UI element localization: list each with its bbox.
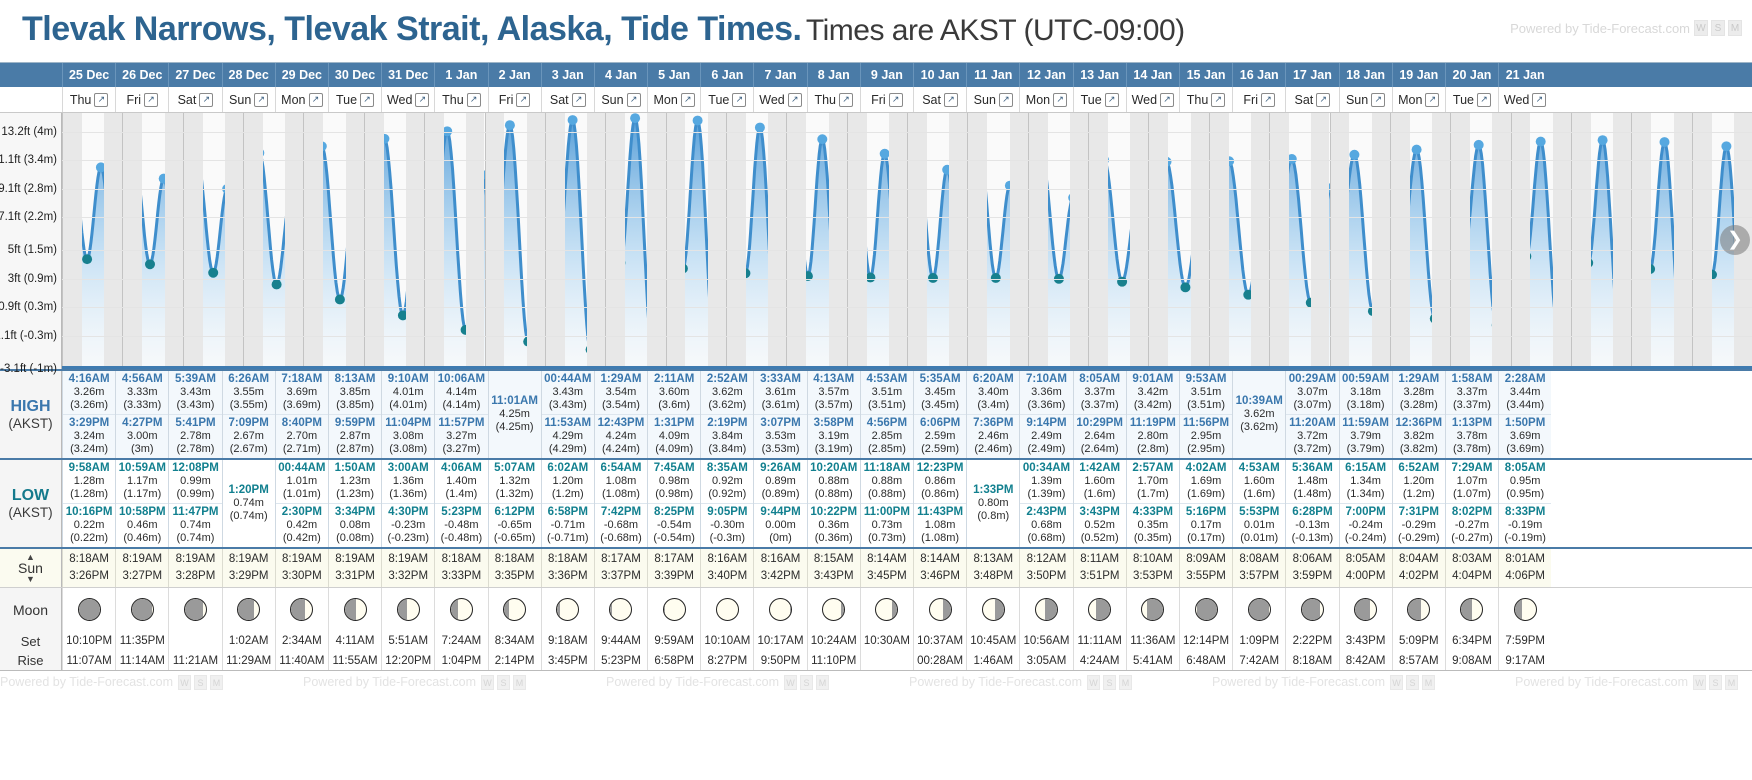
expand-day-icon[interactable]: ↗: [1261, 93, 1275, 107]
tide-event-height: 4.24m: [595, 430, 647, 443]
weekday-cell[interactable]: Thu↗: [62, 87, 115, 112]
tide-event-height: 0.22m: [63, 519, 115, 532]
chart-plot-area[interactable]: ❯: [62, 113, 1752, 369]
date-cell[interactable]: 14 Jan: [1126, 63, 1179, 87]
tide-event-height-alt: (3.27m): [435, 443, 487, 456]
high-label-text: HIGH: [11, 398, 51, 416]
tide-event-height-alt: (3.62m): [1233, 421, 1285, 434]
low-tide-cell: 11:18AM0.88m(0.88m)11:00PM0.73m(0.73m): [860, 460, 913, 547]
moon-phase-icon: [184, 598, 207, 621]
date-cell[interactable]: 7 Jan: [753, 63, 806, 87]
expand-day-icon[interactable]: ↗: [1371, 93, 1385, 107]
moonrise-cell: 2:14PM: [488, 651, 541, 670]
sunset-time: 4:02PM: [1399, 568, 1439, 585]
tide-event-height-alt: (3.51m): [1180, 399, 1232, 412]
tide-event-height-alt: (1.17m): [116, 488, 168, 501]
weekday-cell[interactable]: Sun↗: [222, 87, 275, 112]
date-cell[interactable]: 31 Dec: [381, 63, 434, 87]
moonset-cell: 4:11AM: [328, 631, 381, 651]
tide-event-height: 0.74m: [223, 497, 275, 510]
tide-event: 11:43PM1.08m(1.08m): [914, 503, 966, 547]
tide-event-height: 0.86m: [914, 475, 966, 488]
expand-day-icon[interactable]: ↗: [144, 93, 158, 107]
wind-icon: W: [178, 675, 191, 690]
tide-event: 2:28AM3.44m(3.44m): [1499, 371, 1551, 414]
date-cell[interactable]: 28 Dec: [222, 63, 275, 87]
tide-event: 6:02AM1.20m(1.2m): [542, 460, 594, 503]
moonset-row: Set 10:10PM11:35PM1:02AM2:34AM4:11AM5:51…: [0, 631, 1752, 651]
expand-day-icon[interactable]: ↗: [839, 93, 853, 107]
expand-day-icon[interactable]: ↗: [1477, 93, 1491, 107]
date-cell[interactable]: 29 Dec: [275, 63, 328, 87]
date-cells: 25 Dec26 Dec27 Dec28 Dec29 Dec30 Dec31 D…: [62, 63, 1752, 87]
scroll-right-button[interactable]: ❯: [1720, 225, 1750, 255]
expand-day-icon[interactable]: ↗: [1105, 93, 1119, 107]
tide-event-height: 3.78m: [1446, 430, 1498, 443]
night-shading: [1432, 113, 1450, 366]
sun-cell: 8:14AM3:46PM: [913, 549, 966, 587]
moon-cell: [594, 588, 647, 631]
night-shading: [1511, 113, 1531, 366]
date-cell[interactable]: 17 Jan: [1285, 63, 1338, 87]
tide-event-height: 2.64m: [1074, 430, 1126, 443]
tide-event-height: 1.48m: [1286, 475, 1338, 488]
night-shading: [346, 113, 364, 366]
night-shading: [1269, 113, 1289, 366]
tide-event-height-alt: (-0.65m): [489, 532, 541, 545]
date-cell[interactable]: 25 Dec: [62, 63, 115, 87]
tide-event-time: 6:52AM: [1393, 462, 1445, 475]
expand-day-icon[interactable]: ↗: [681, 93, 695, 107]
sunset-time: 3:32PM: [388, 568, 428, 585]
tide-event: 11:56PM2.95m(2.95m): [1180, 414, 1232, 458]
date-cell[interactable]: 16 Jan: [1232, 63, 1285, 87]
weekday-cell[interactable]: Mon↗: [647, 87, 700, 112]
tide-event-height-alt: (0.73m): [861, 532, 913, 545]
date-cell[interactable]: 3 Jan: [541, 63, 594, 87]
date-cell[interactable]: 21 Jan: [1498, 63, 1551, 87]
tide-event-height-alt: (2.46m): [967, 443, 1019, 456]
night-shading: [726, 113, 746, 366]
tide-event-height: 4.25m: [489, 408, 541, 421]
expand-day-icon[interactable]: ↗: [360, 93, 374, 107]
expand-day-icon[interactable]: ↗: [309, 93, 323, 107]
night-shading: [243, 113, 263, 366]
high-tide-cell: 1:29AM3.28m(3.28m)12:36PM3.82m(3.82m): [1392, 371, 1445, 458]
expand-day-icon[interactable]: ↗: [254, 93, 268, 107]
high-tide-cell: 2:52AM3.62m(3.62m)2:19PM3.84m(3.84m): [700, 371, 753, 458]
moonrise-cell: 3:05AM: [1019, 651, 1072, 670]
tide-event-height-alt: (2.67m): [223, 443, 275, 456]
weekday-cell[interactable]: Sun↗: [594, 87, 647, 112]
moonset-cell: 10:45AM: [966, 631, 1019, 651]
moon-phase-icon: [131, 598, 154, 621]
moon-shadow: [1355, 599, 1370, 620]
tide-event: 1:42AM1.60m(1.6m): [1074, 460, 1126, 503]
y-axis-tick: 0.9ft (0.3m): [0, 301, 57, 313]
weekday-cell[interactable]: Wed↗: [1126, 87, 1179, 112]
moon-cell: [1285, 588, 1338, 631]
weekday-cell[interactable]: Thu↗: [434, 87, 487, 112]
expand-day-icon[interactable]: ↗: [516, 93, 530, 107]
tide-event: 11:18AM0.88m(0.88m): [861, 460, 913, 503]
tide-event: 3:29PM3.24m(3.24m): [63, 414, 115, 458]
date-cell[interactable]: 5 Jan: [647, 63, 700, 87]
moonset-cell: 1:02AM: [222, 631, 275, 651]
tide-event-height: -0.29m: [1393, 519, 1445, 532]
date-cell[interactable]: 27 Dec: [168, 63, 221, 87]
tide-event-time: 4:16AM: [63, 373, 115, 386]
high-tide-cell: 2:11AM3.60m(3.6m)1:31PM4.09m(4.09m): [647, 371, 700, 458]
expand-day-icon[interactable]: ↗: [788, 93, 802, 107]
moon-cell: [1232, 588, 1285, 631]
tide-event: 00:44AM1.01m(1.01m): [276, 460, 328, 503]
tide-event-height-alt: (-0.23m): [382, 532, 434, 545]
tide-event-time: 7:00PM: [1340, 506, 1392, 519]
tide-event-height: 3.43m: [542, 386, 594, 399]
sun-cell: 8:18AM3:35PM: [488, 549, 541, 587]
moon-row: Moon: [0, 587, 1752, 631]
moon-phase-icon: [1354, 598, 1377, 621]
expand-day-icon[interactable]: ↗: [467, 93, 481, 107]
date-cell[interactable]: 19 Jan: [1392, 63, 1445, 87]
footer-watermark: Powered by Tide-Forecast.comWSM: [0, 675, 303, 690]
expand-day-icon[interactable]: ↗: [1316, 93, 1330, 107]
moon-cell: [381, 588, 434, 631]
sunset-time: 3:55PM: [1186, 568, 1226, 585]
weekday-cell[interactable]: Tue↗: [1445, 87, 1498, 112]
date-cell[interactable]: 1 Jan: [434, 63, 487, 87]
tide-event-height: 2.87m: [329, 430, 381, 443]
moon-shadow: [1096, 599, 1110, 620]
sunset-time: 3:37PM: [601, 568, 641, 585]
weekday-cell[interactable]: Tue↗: [328, 87, 381, 112]
tide-event-time: 8:05AM: [1499, 462, 1551, 475]
weekday-cell[interactable]: Sat↗: [168, 87, 221, 112]
weekday-text: Sun: [601, 87, 623, 112]
sunset-time: 3:48PM: [973, 568, 1013, 585]
weekday-cell[interactable]: Thu↗: [807, 87, 860, 112]
footer-watermark-icons: WSM: [784, 675, 829, 690]
date-cell[interactable]: 6 Jan: [700, 63, 753, 87]
moonrise-cell: 8:42AM: [1339, 651, 1392, 670]
moon-cell: [328, 588, 381, 631]
tide-event-height: -0.48m: [435, 519, 487, 532]
tide-event-height-alt: (3.45m): [914, 399, 966, 412]
tide-event-height-alt: (3.61m): [754, 399, 806, 412]
tide-event-height-alt: (1.07m): [1446, 488, 1498, 501]
y-axis-tick: 11.1ft (3.4m): [0, 154, 57, 166]
night-shading: [1492, 113, 1510, 366]
tide-extreme-dot: [208, 268, 218, 278]
chart-gridline: [62, 250, 1752, 251]
tide-event-time: 1:33PM: [967, 484, 1019, 497]
moon-cell: [860, 588, 913, 631]
sunrise-time: 8:18AM: [495, 551, 535, 568]
tide-event: 4:27PM3.00m(3m): [116, 414, 168, 458]
moon-cell: [966, 588, 1019, 631]
weekday-cell[interactable]: Mon↗: [1392, 87, 1445, 112]
tide-event: 8:35AM0.92m(0.92m): [701, 460, 753, 503]
weekday-cell[interactable]: Wed↗: [381, 87, 434, 112]
expand-day-icon[interactable]: ↗: [1532, 93, 1546, 107]
tide-event-height: 2.80m: [1127, 430, 1179, 443]
moon-phase-icon: [1514, 598, 1537, 621]
chart-gridline: [62, 307, 1752, 308]
expand-day-icon[interactable]: ↗: [732, 93, 746, 107]
low-tide-cell: 10:59AM1.17m(1.17m)10:58PM0.46m(0.46m): [115, 460, 168, 547]
sunrise-time: 8:04AM: [1399, 551, 1439, 568]
night-shading: [466, 113, 484, 366]
tide-event-height: 1.01m: [276, 475, 328, 488]
day-separator: [183, 113, 184, 366]
moonset-cell: 1:09PM: [1232, 631, 1285, 651]
tide-event-height-alt: (3.6m): [648, 399, 700, 412]
weekday-cell[interactable]: Mon↗: [275, 87, 328, 112]
expand-day-icon[interactable]: ↗: [1160, 93, 1174, 107]
sunrise-time: 8:19AM: [176, 551, 216, 568]
weekday-cell[interactable]: Sat↗: [913, 87, 966, 112]
low-tide-cell: 4:02AM1.69m(1.69m)5:16PM0.17m(0.17m): [1179, 460, 1232, 547]
mountain-icon: M: [1728, 20, 1742, 36]
date-cell[interactable]: 4 Jan: [594, 63, 647, 87]
moon-cell: [753, 588, 806, 631]
tide-event-height: 0.52m: [1074, 519, 1126, 532]
weekday-text: Mon: [281, 87, 305, 112]
tide-extreme-dot: [630, 113, 640, 123]
date-cell[interactable]: 15 Jan: [1179, 63, 1232, 87]
tide-event-time: 10:22PM: [808, 506, 860, 519]
night-shading: [364, 113, 384, 366]
tide-event-height-alt: (0.22m): [63, 532, 115, 545]
footer-watermark-icons: WSM: [1693, 675, 1738, 690]
expand-day-icon[interactable]: ↗: [1053, 93, 1067, 107]
footer-watermark-text: Powered by Tide-Forecast.com: [0, 675, 173, 689]
tide-event: 6:54AM1.08m(1.08m): [595, 460, 647, 503]
tide-event: 9:10AM4.01m(4.01m): [382, 371, 434, 414]
weekday-cell[interactable]: Sun↗: [1339, 87, 1392, 112]
tide-event: 11:19PM2.80m(2.8m): [1127, 414, 1179, 458]
tide-event-height: 1.20m: [542, 475, 594, 488]
expand-day-icon[interactable]: ↗: [627, 93, 641, 107]
tide-event-time: 2:57AM: [1127, 462, 1179, 475]
tide-event-height-alt: (3.36m): [1020, 399, 1072, 412]
sun-cell: 8:16AM3:40PM: [700, 549, 753, 587]
tide-event: 7:10AM3.36m(3.36m): [1020, 371, 1072, 414]
tide-event-height-alt: (0m): [754, 532, 806, 545]
powered-by-icons: W S M: [1694, 20, 1742, 36]
moon-shadow: [185, 599, 203, 620]
moon-cell: [1498, 588, 1551, 631]
date-cell[interactable]: 18 Jan: [1339, 63, 1392, 87]
tide-event-height: 2.85m: [861, 430, 913, 443]
tide-event-height: 3.07m: [1286, 386, 1338, 399]
expand-day-icon[interactable]: ↗: [1425, 93, 1439, 107]
sunrise-time: 8:09AM: [1186, 551, 1226, 568]
footer-watermarks: Powered by Tide-Forecast.comWSMPowered b…: [0, 671, 1752, 693]
tide-event: 11:57PM3.27m(3.27m): [435, 414, 487, 458]
tide-event-time: 1:50AM: [329, 462, 381, 475]
tide-event-height: 2.95m: [1180, 430, 1232, 443]
date-cell[interactable]: 20 Jan: [1445, 63, 1498, 87]
tide-event-time: 7:36PM: [967, 417, 1019, 430]
expand-day-icon[interactable]: ↗: [199, 93, 213, 107]
expand-day-icon[interactable]: ↗: [415, 93, 429, 107]
tide-event: 1:58AM3.37m(3.37m): [1446, 371, 1498, 414]
tide-event-time: 9:44PM: [754, 506, 806, 519]
weekday-cell[interactable]: Wed↗: [753, 87, 806, 112]
weekday-cell[interactable]: Sat↗: [541, 87, 594, 112]
tide-event: 3:43PM0.52m(0.52m): [1074, 503, 1126, 547]
tide-event-height: 3.24m: [63, 430, 115, 443]
tide-event-time: 10:20AM: [808, 462, 860, 475]
mountain-icon: M: [513, 675, 526, 690]
moon-cell: [1392, 588, 1445, 631]
weekday-cell[interactable]: Tue↗: [1073, 87, 1126, 112]
sunset-time: 3:42PM: [761, 568, 801, 585]
moon-shadow: [1515, 599, 1523, 620]
tide-event-time: 00:44AM: [542, 373, 594, 386]
moon-shadow: [79, 599, 99, 620]
low-tide-cell: 1:42AM1.60m(1.6m)3:43PM0.52m(0.52m): [1073, 460, 1126, 547]
weekday-text: Fri: [871, 87, 886, 112]
tide-event-height-alt: (1.6m): [1074, 488, 1126, 501]
weekday-cell[interactable]: Fri↗: [488, 87, 541, 112]
weekday-cell[interactable]: Sun↗: [966, 87, 1019, 112]
sunset-time: 3:53PM: [1133, 568, 1173, 585]
tide-extreme-dot: [568, 115, 578, 125]
moonset-cell: 7:24AM: [434, 631, 487, 651]
tide-event: 3:33AM3.61m(3.61m): [754, 371, 806, 414]
weekday-cell[interactable]: Fri↗: [115, 87, 168, 112]
chart-gridline: [62, 132, 1752, 133]
date-cell[interactable]: 26 Dec: [115, 63, 168, 87]
tide-event-time: 4:13AM: [808, 373, 860, 386]
sunset-time: 3:45PM: [867, 568, 907, 585]
tide-event-height: 3.85m: [329, 386, 381, 399]
footer-watermark-icons: WSM: [1390, 675, 1435, 690]
y-axis-tick: 3ft (0.9m): [8, 273, 57, 285]
moonset-cell: 11:35PM: [115, 631, 168, 651]
low-tide-row: LOW (AKST) 9:58AM1.28m(1.28m)10:16PM0.22…: [0, 458, 1752, 547]
tide-event: 5:36AM1.48m(1.48m): [1286, 460, 1338, 503]
date-cell[interactable]: 11 Jan: [966, 63, 1019, 87]
weekday-cell[interactable]: Fri↗: [1232, 87, 1285, 112]
tide-event-height-alt: (0.86m): [914, 488, 966, 501]
date-cell[interactable]: 12 Jan: [1019, 63, 1072, 87]
tide-event-height-alt: (3.43m): [542, 399, 594, 412]
sun-cell: 8:19AM3:31PM: [328, 549, 381, 587]
sunset-time: 3:36PM: [548, 568, 588, 585]
tide-event-height-alt: (3.78m): [1446, 443, 1498, 456]
expand-day-icon[interactable]: ↗: [889, 93, 903, 107]
tide-event-height-alt: (1.01m): [276, 488, 328, 501]
tide-event: 2:30PM0.42m(0.42m): [276, 503, 328, 547]
tide-event-time: 3:33AM: [754, 373, 806, 386]
tide-event-time: 6:15AM: [1340, 462, 1392, 475]
tide-event-height: 3.84m: [701, 430, 753, 443]
tide-event-height-alt: (4.25m): [489, 421, 541, 434]
low-tide-cell: 4:06AM1.40m(1.4m)5:23PM-0.48m(-0.48m): [434, 460, 487, 547]
sun-cell: 8:19AM3:28PM: [168, 549, 221, 587]
weekday-text: Tue: [1453, 87, 1474, 112]
moon-label-text: Moon: [13, 602, 48, 618]
tide-event-time: 4:06AM: [435, 462, 487, 475]
expand-day-icon[interactable]: ↗: [572, 93, 586, 107]
date-cell[interactable]: 13 Jan: [1073, 63, 1126, 87]
tide-event: 3:07PM3.53m(3.53m): [754, 414, 806, 458]
tide-event-time: 00:34AM: [1020, 462, 1072, 475]
tide-event-time: 3:07PM: [754, 417, 806, 430]
tide-event: 7:36PM2.46m(2.46m): [967, 414, 1019, 458]
footer-watermark-icons: WSM: [1087, 675, 1132, 690]
weekday-cell[interactable]: Wed↗: [1498, 87, 1551, 112]
moonset-cell: 2:34AM: [275, 631, 328, 651]
moonrise-cell: 9:50PM: [753, 651, 806, 670]
expand-day-icon[interactable]: ↗: [944, 93, 958, 107]
tide-event-height: 4.09m: [648, 430, 700, 443]
tide-event-time: 2:19PM: [701, 417, 753, 430]
night-shading: [949, 113, 967, 366]
y-axis-tick: -1.1ft (-0.3m): [0, 330, 57, 342]
moon-phase-icon: [769, 598, 792, 621]
date-cell[interactable]: 2 Jan: [488, 63, 541, 87]
tide-event-height-alt: (3.53m): [754, 443, 806, 456]
tide-event-time: 5:07AM: [489, 462, 541, 475]
sun-cell: 8:01AM4:06PM: [1498, 549, 1551, 587]
tide-event-time: 7:31PM: [1393, 506, 1445, 519]
tide-event: 7:42PM-0.68m(-0.68m): [595, 503, 647, 547]
footer-watermark: Powered by Tide-Forecast.comWSM: [1515, 675, 1752, 690]
low-tide-cell: 12:23PM0.86m(0.86m)11:43PM1.08m(1.08m): [913, 460, 966, 547]
expand-day-icon[interactable]: ↗: [1211, 93, 1225, 107]
moonrise-cell: 6:58PM: [647, 651, 700, 670]
date-cell[interactable]: 10 Jan: [913, 63, 966, 87]
tide-event: 5:35AM3.45m(3.45m): [914, 371, 966, 414]
tide-event: 10:39AM3.62m(3.62m): [1233, 393, 1285, 436]
date-cell[interactable]: 9 Jan: [860, 63, 913, 87]
moon-shadow: [398, 599, 407, 620]
tide-event: 8:33PM-0.19m(-0.19m): [1499, 503, 1551, 547]
tide-event-time: 7:29AM: [1446, 462, 1498, 475]
date-cell[interactable]: 8 Jan: [807, 63, 860, 87]
tide-event-height-alt: (3.57m): [808, 399, 860, 412]
moon-cell: [222, 588, 275, 631]
weekday-cell[interactable]: Fri↗: [860, 87, 913, 112]
weekday-cell[interactable]: Mon↗: [1019, 87, 1072, 112]
tide-event: 2:52AM3.62m(3.62m): [701, 371, 753, 414]
day-separator: [1692, 113, 1693, 366]
expand-day-icon[interactable]: ↗: [94, 93, 108, 107]
tide-extreme-dot: [1660, 137, 1670, 147]
tide-event-time: 3:43PM: [1074, 506, 1126, 519]
weekday-cell[interactable]: Thu↗: [1179, 87, 1232, 112]
tide-event-height: 1.60m: [1074, 475, 1126, 488]
date-cell[interactable]: 30 Dec: [328, 63, 381, 87]
weekday-cell[interactable]: Tue↗: [700, 87, 753, 112]
moon-phase-icon: [1035, 598, 1058, 621]
high-tide-cell: 11:01AM4.25m(4.25m): [488, 371, 541, 458]
tide-event-time: 1:31PM: [648, 417, 700, 430]
sun-cell: 8:19AM3:29PM: [222, 549, 275, 587]
moon-cell: [115, 588, 168, 631]
tide-event-height: 2.46m: [967, 430, 1019, 443]
tide-event-height-alt: (-0.48m): [435, 532, 487, 545]
tide-event-height: 0.80m: [967, 497, 1019, 510]
weekday-cell[interactable]: Sat↗: [1285, 87, 1338, 112]
sun-cell: 8:05AM4:00PM: [1339, 549, 1392, 587]
expand-day-icon[interactable]: ↗: [999, 93, 1013, 107]
